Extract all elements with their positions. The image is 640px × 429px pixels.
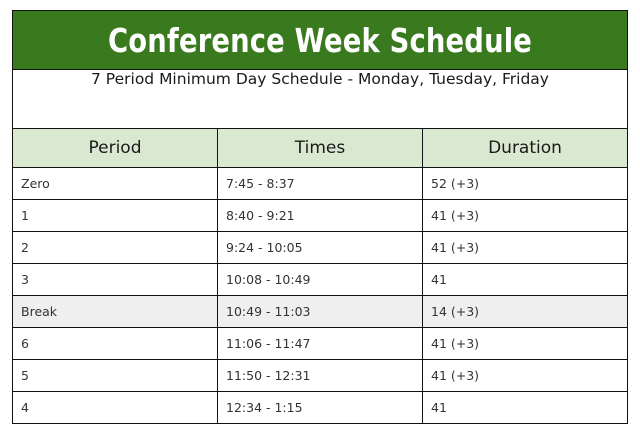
table-row: 4 12:34 - 1:15 41 — [13, 392, 628, 424]
cell-times: 8:40 - 9:21 — [218, 200, 423, 232]
table-row: Zero 7:45 - 8:37 52 (+3) — [13, 168, 628, 200]
cell-period: 4 — [13, 392, 218, 424]
cell-duration: 14 (+3) — [423, 296, 628, 328]
cell-times: 11:06 - 11:47 — [218, 328, 423, 360]
title-banner-row: Conference Week Schedule — [13, 11, 628, 70]
table-row-break: Break 10:49 - 11:03 14 (+3) — [13, 296, 628, 328]
cell-duration: 41 (+3) — [423, 328, 628, 360]
cell-times: 10:08 - 10:49 — [218, 264, 423, 296]
schedule-document: Conference Week Schedule 7 Period Minimu… — [0, 0, 640, 429]
cell-times: 7:45 - 8:37 — [218, 168, 423, 200]
subtitle-cell: 7 Period Minimum Day Schedule - Monday, … — [13, 70, 628, 129]
title-banner: Conference Week Schedule — [13, 11, 628, 70]
column-header-duration: Duration — [423, 129, 628, 168]
cell-period: 3 — [13, 264, 218, 296]
table-body: Conference Week Schedule 7 Period Minimu… — [13, 11, 628, 424]
cell-duration: 41 — [423, 392, 628, 424]
subtitle-row: 7 Period Minimum Day Schedule - Monday, … — [13, 70, 628, 129]
cell-period: 5 — [13, 360, 218, 392]
conference-week-schedule-table: Conference Week Schedule 7 Period Minimu… — [12, 10, 628, 424]
cell-times: 11:50 - 12:31 — [218, 360, 423, 392]
cell-period: 1 — [13, 200, 218, 232]
table-row: 6 11:06 - 11:47 41 (+3) — [13, 328, 628, 360]
cell-period: Break — [13, 296, 218, 328]
cell-duration: 41 — [423, 264, 628, 296]
table-row: 5 11:50 - 12:31 41 (+3) — [13, 360, 628, 392]
cell-period: 6 — [13, 328, 218, 360]
table-row: 2 9:24 - 10:05 41 (+3) — [13, 232, 628, 264]
cell-duration: 41 (+3) — [423, 200, 628, 232]
cell-duration: 52 (+3) — [423, 168, 628, 200]
page-subtitle: 7 Period Minimum Day Schedule - Monday, … — [13, 70, 627, 89]
column-header-row: Period Times Duration — [13, 129, 628, 168]
cell-times: 12:34 - 1:15 — [218, 392, 423, 424]
cell-duration: 41 (+3) — [423, 232, 628, 264]
cell-times: 9:24 - 10:05 — [218, 232, 423, 264]
column-header-period: Period — [13, 129, 218, 168]
cell-duration: 41 (+3) — [423, 360, 628, 392]
column-header-times: Times — [218, 129, 423, 168]
table-row: 1 8:40 - 9:21 41 (+3) — [13, 200, 628, 232]
table-row: 3 10:08 - 10:49 41 — [13, 264, 628, 296]
cell-period: Zero — [13, 168, 218, 200]
cell-period: 2 — [13, 232, 218, 264]
cell-times: 10:49 - 11:03 — [218, 296, 423, 328]
page-title: Conference Week Schedule — [65, 24, 575, 57]
